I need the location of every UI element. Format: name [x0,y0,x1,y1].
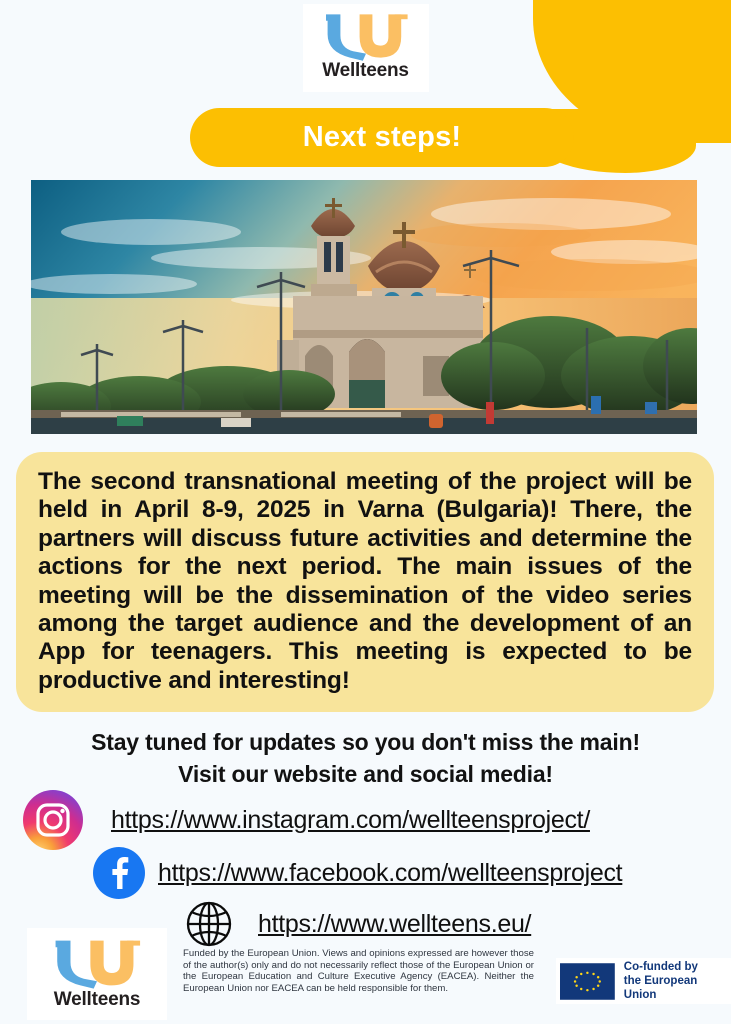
facebook-url[interactable]: https://www.facebook.com/wellteensprojec… [158,859,622,888]
announcement-text: The second transnational meeting of the … [38,468,692,695]
website-link-row[interactable]: https://www.wellteens.eu/ [182,897,531,951]
cta-line-1: Stay tuned for updates so you don't miss… [0,726,731,758]
facebook-link-row[interactable]: https://www.facebook.com/wellteensprojec… [90,845,622,901]
announcement-card: The second transnational meeting of the … [16,452,714,712]
facebook-icon[interactable] [90,845,148,901]
poster-canvas: Wellteens Next steps! [0,0,731,1024]
eu-flag-icon [560,962,615,1001]
eu-funding-badge: Co-funded by the European Union [556,958,731,1004]
header-logo: Wellteens [303,4,429,92]
footer-logo-wordmark: Wellteens [54,989,141,1011]
footer-logo: Wellteens [27,928,167,1020]
website-url[interactable]: https://www.wellteens.eu/ [258,910,531,939]
eu-disclaimer-text: Funded by the European Union. Views and … [183,948,534,994]
globe-icon[interactable] [182,897,236,951]
header-logo-wordmark: Wellteens [322,60,409,82]
instagram-url[interactable]: https://www.instagram.com/wellteensproje… [111,806,590,835]
cta-line-2: Visit our website and social media! [0,758,731,790]
instagram-icon[interactable] [17,789,89,851]
wellteens-logo-icon [310,8,422,64]
instagram-link-row[interactable]: https://www.instagram.com/wellteensproje… [17,789,590,851]
next-steps-banner: Next steps! [190,108,574,167]
eu-badge-label: Co-funded by the European Union [624,960,727,1002]
cathedral-photo [31,180,697,434]
wellteens-logo-icon [38,934,156,992]
banner-label: Next steps! [303,121,462,154]
call-to-action: Stay tuned for updates so you don't miss… [0,726,731,790]
cathedral-photo-illustration [31,180,697,434]
